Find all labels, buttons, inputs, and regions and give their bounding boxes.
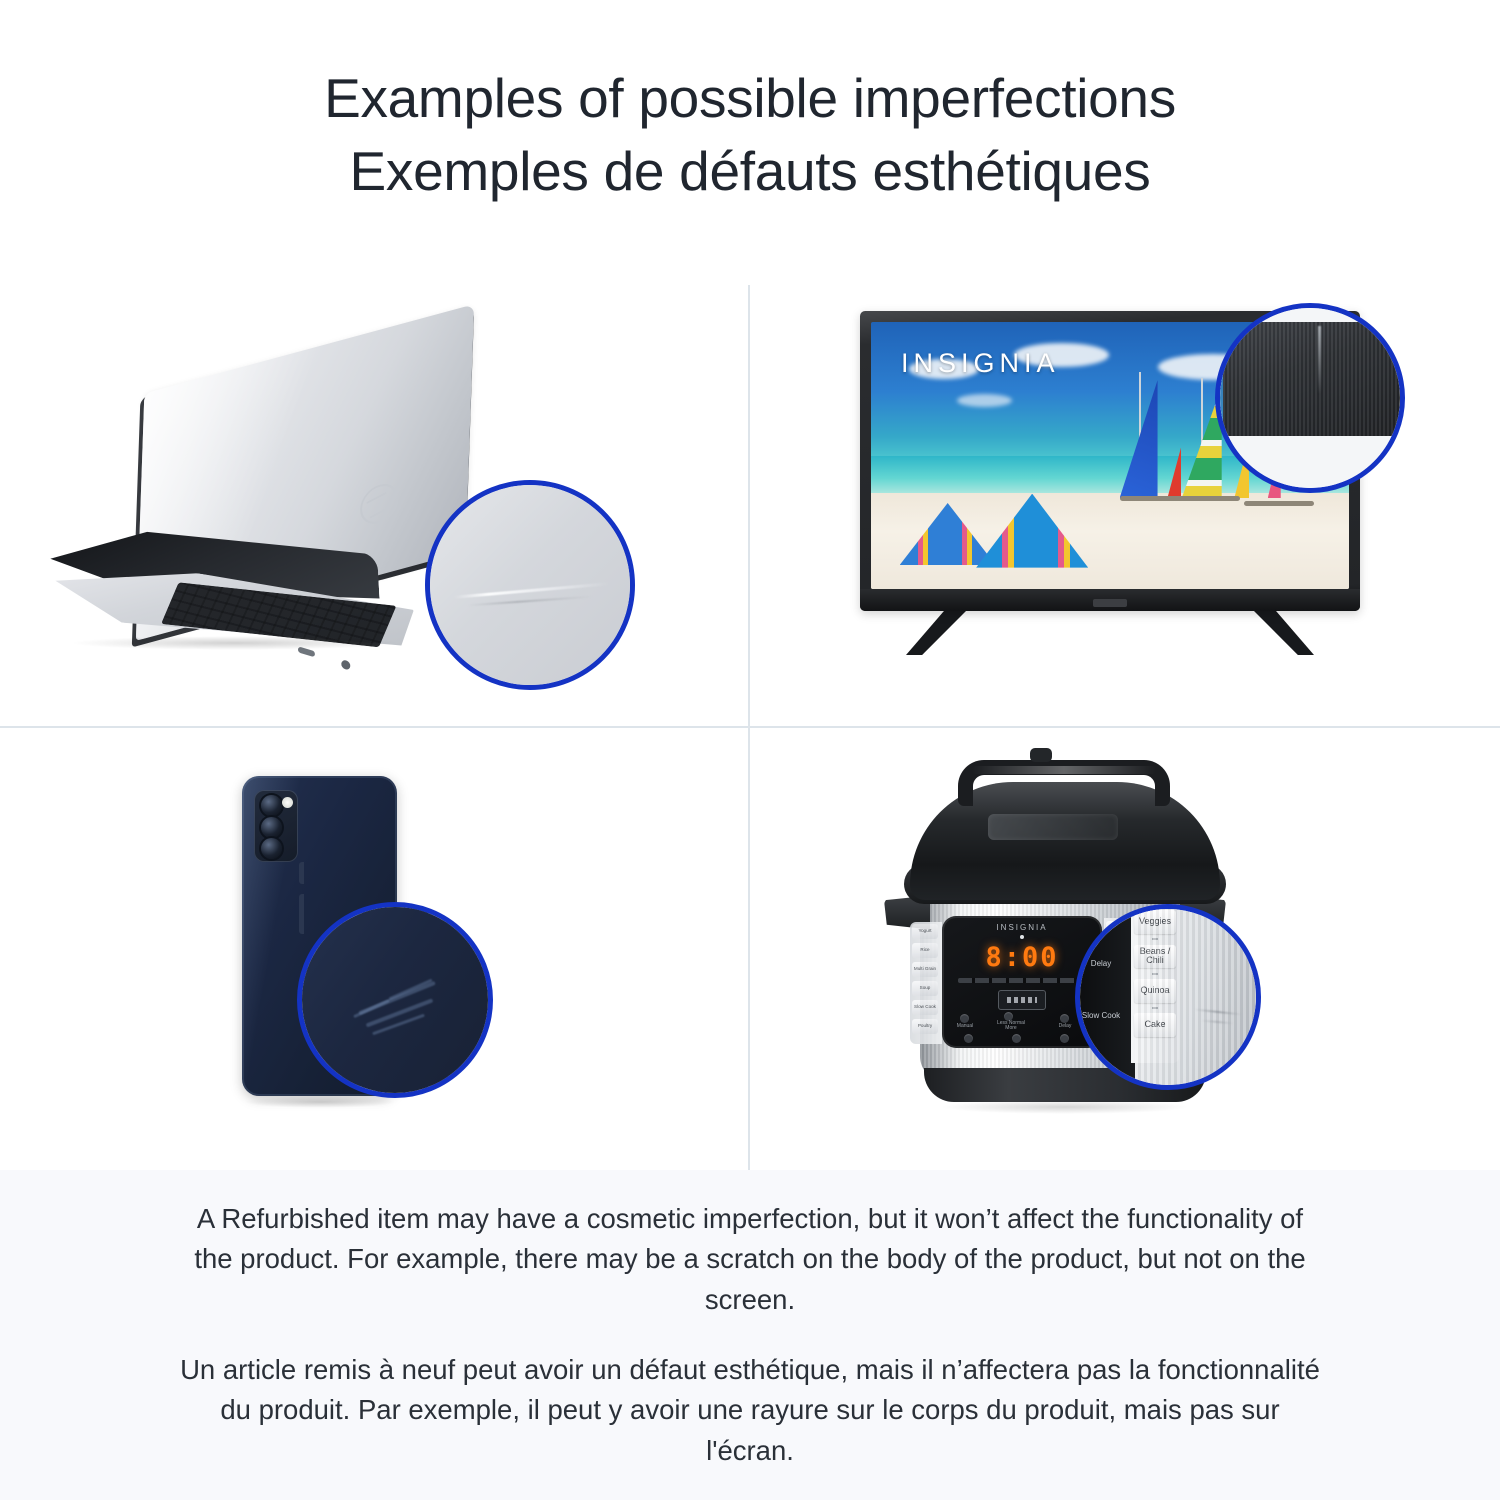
magnified-cooker-left-key-0: Delay: [1079, 959, 1124, 968]
laptop-illustration: [40, 340, 560, 670]
page-title-french: Exemples de défauts esthétiques: [350, 135, 1151, 208]
cooker-pressure-valve-icon: [1030, 748, 1052, 762]
pressure-cooker-illustration: Yogurt Rice Multi Grain Soup Slow Cook P…: [880, 746, 1280, 1136]
cooker-panel-button-3[interactable]: [964, 1034, 973, 1043]
example-cell-tv: INSIGNIA: [750, 285, 1500, 728]
cooker-panel-button-4[interactable]: [1012, 1034, 1021, 1043]
magnifier-phone-scratches: [297, 902, 493, 1098]
example-cell-laptop: [0, 285, 750, 728]
cooker-brand-logo: INSIGNIA: [996, 923, 1047, 932]
laptop-audio-port-icon: [341, 659, 351, 670]
magnified-cooker-left-key-1: Slow Cook: [1079, 1011, 1124, 1020]
cooker-panel-label-1: Less Normal More: [994, 1021, 1028, 1033]
phone-flash-icon: [282, 797, 293, 808]
magnifier-cooker-scratch: Veggies Beans / Chili Quinoa Cake Delay …: [1075, 904, 1261, 1090]
tv-brand-logo: INSIGNIA: [901, 348, 1060, 379]
example-cell-pressure-cooker: Yogurt Rice Multi Grain Soup Slow Cook P…: [750, 728, 1500, 1171]
refurbished-imperfections-infographic: Examples of possible imperfections Exemp…: [0, 0, 1500, 1500]
cooker-panel-button-5[interactable]: [1060, 1034, 1069, 1043]
cooker-left-key-5[interactable]: Poultry: [912, 1019, 938, 1034]
cooker-panel-button-2[interactable]: [1060, 1014, 1069, 1023]
phone-power-button: [299, 862, 304, 884]
product-examples-grid: INSIGNIA: [0, 285, 1500, 1170]
magnifier-tv-bezel-scuff: [1215, 303, 1405, 493]
magnifier-laptop-scratch: [425, 480, 635, 690]
footer-paragraph-french: Un article remis à neuf peut avoir un dé…: [180, 1350, 1320, 1471]
cooker-left-key-2[interactable]: Multi Grain: [912, 962, 938, 977]
tv-stand-left: [906, 609, 968, 655]
cooker-left-key-3[interactable]: Soup: [912, 981, 938, 996]
page-title-english: Examples of possible imperfections: [324, 62, 1176, 135]
cooker-mode-indicator: [998, 990, 1046, 1010]
phone-camera-module-icon: [254, 790, 298, 862]
tv-stand-right: [1252, 609, 1314, 655]
cooker-left-key-0[interactable]: Yogurt: [912, 924, 938, 939]
cooker-left-key-1[interactable]: Rice: [912, 943, 938, 958]
cooker-left-key-4[interactable]: Slow Cook: [912, 1000, 938, 1015]
phone-illustration: [182, 766, 512, 1136]
example-cell-phone: [0, 728, 750, 1171]
tv-illustration: INSIGNIA: [860, 311, 1400, 671]
tv-ir-sensor-icon: [1093, 599, 1127, 607]
footer-paragraph-english: A Refurbished item may have a cosmetic i…: [180, 1199, 1320, 1320]
cooker-panel-label-0: Manual: [948, 1024, 982, 1030]
footer-description-panel: A Refurbished item may have a cosmetic i…: [0, 1170, 1500, 1500]
cooker-left-key-column: Yogurt Rice Multi Grain Soup Slow Cook P…: [910, 922, 942, 1044]
cooker-led-display: 8:00: [985, 942, 1058, 973]
cooker-panel-button-0[interactable]: [960, 1014, 969, 1023]
cooker-lid-plate: [988, 814, 1118, 840]
cooker-panel-label-2: Delay: [1048, 1024, 1082, 1030]
cooker-progress-bar: [958, 978, 1086, 983]
page-title-block: Examples of possible imperfections Exemp…: [0, 0, 1500, 255]
